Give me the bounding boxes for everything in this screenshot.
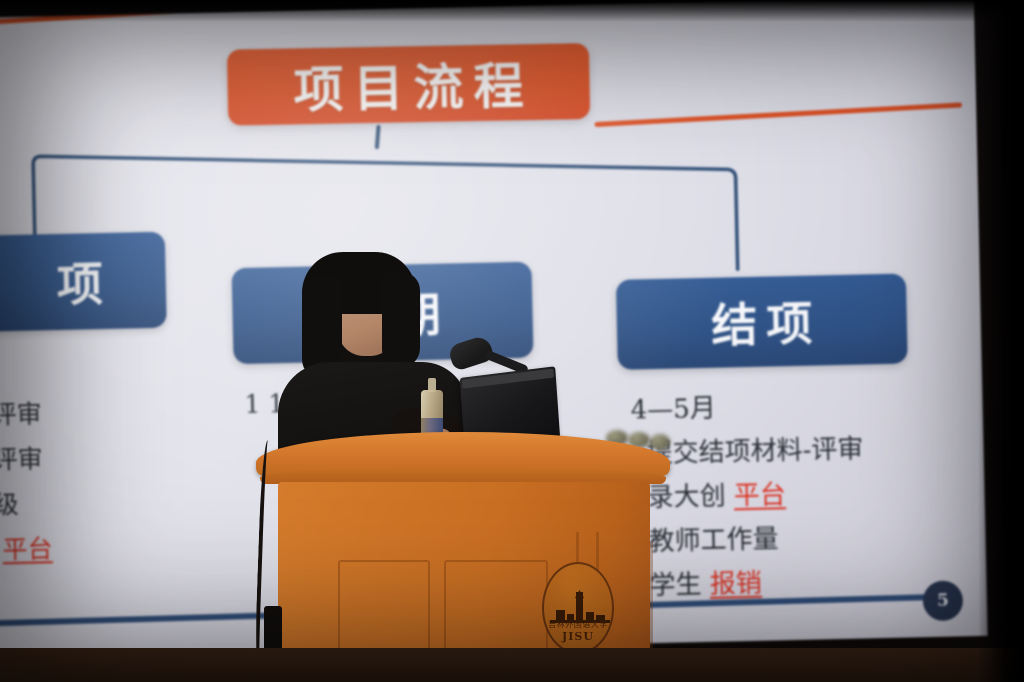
water-bottle — [421, 378, 443, 440]
emblem-chinese-name: 吉林外国语大学 — [548, 619, 608, 630]
laptop-lid-edge — [462, 368, 554, 388]
speaker-hair-right — [382, 272, 420, 368]
lectern-podium — [256, 432, 670, 682]
emblem-english-name: JISU — [562, 630, 594, 643]
presentation-photo: 项目流程 项 期 结项 知发布 —学院评审 —学校评审 — [0, 0, 1024, 682]
university-emblem: 吉林外国语大学 JISU — [542, 562, 614, 654]
stage-floor — [0, 648, 1024, 682]
frame-edge-right — [978, 0, 1024, 682]
stage-foreground: 吉林外国语大学 JISU — [0, 0, 1024, 682]
frame-edge-top — [0, 0, 1024, 22]
